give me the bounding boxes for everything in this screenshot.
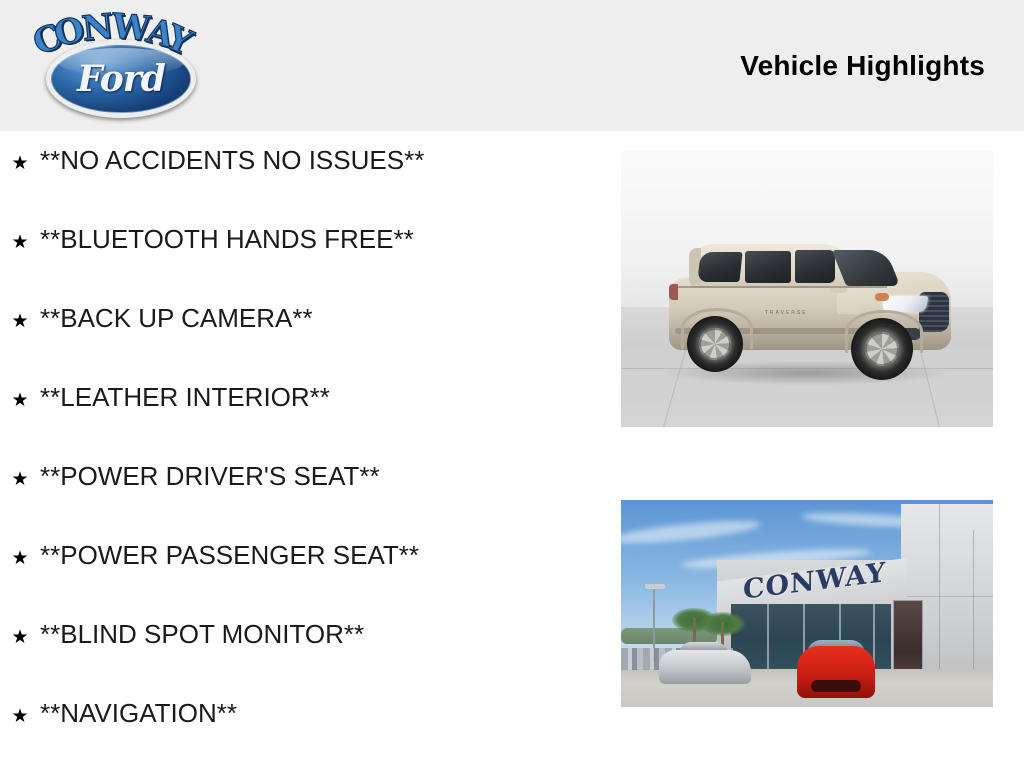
vehicle-highlights-list: ★ **NO ACCIDENTS NO ISSUES** ★ **BLUETOO… (0, 147, 600, 779)
building-panel-seam (939, 504, 940, 690)
building-panel-seam (973, 530, 974, 690)
suv-turn-signal (875, 293, 889, 301)
list-item: ★ **POWER PASSENGER SEAT** (0, 542, 600, 621)
star-icon: ★ (0, 154, 40, 173)
list-item: ★ **NO ACCIDENTS NO ISSUES** (0, 147, 600, 226)
suv-tail-light (669, 284, 678, 300)
media-panel: TRAVERSE CONWAY (621, 150, 993, 707)
page-title: Vehicle Highlights (740, 50, 985, 82)
dealer-logo: CONWAY Ford (24, 8, 214, 120)
list-item: ★ **BACK UP CAMERA** (0, 305, 600, 384)
highlight-label: **POWER DRIVER'S SEAT** (40, 463, 380, 489)
list-item: ★ **BLIND SPOT MONITOR** (0, 621, 600, 700)
suv-illustration: TRAVERSE (669, 236, 951, 376)
suv-rear-wheel (687, 316, 743, 372)
dealership-photo: CONWAY (621, 500, 993, 707)
star-icon: ★ (0, 628, 40, 647)
star-icon: ★ (0, 470, 40, 489)
highlight-label: **NO ACCIDENTS NO ISSUES** (40, 147, 424, 173)
lot-car-silver (659, 650, 751, 684)
suv-front-wheel (851, 318, 913, 380)
list-item: ★ **NAVIGATION** (0, 700, 600, 779)
star-icon: ★ (0, 707, 40, 726)
suv-rear-quarter-window (697, 252, 742, 282)
star-icon: ★ (0, 549, 40, 568)
parking-light-head (645, 584, 665, 589)
vehicle-photo: TRAVERSE (621, 150, 993, 427)
suv-beltline-trim (677, 286, 887, 288)
star-icon: ★ (0, 391, 40, 410)
star-icon: ★ (0, 312, 40, 331)
highlight-label: **BACK UP CAMERA** (40, 305, 313, 331)
suv-front-door-window (795, 250, 835, 283)
suv-model-badge: TRAVERSE (765, 310, 808, 316)
cloud (621, 516, 761, 548)
highlight-label: **LEATHER INTERIOR** (40, 384, 330, 410)
ford-oval-emblem: Ford (46, 40, 196, 118)
ford-script-text: Ford (46, 40, 196, 118)
building-panel-seam (901, 596, 993, 597)
highlight-label: **NAVIGATION** (40, 700, 237, 726)
list-item: ★ **BLUETOOTH HANDS FREE** (0, 226, 600, 305)
list-item: ★ **LEATHER INTERIOR** (0, 384, 600, 463)
suv-rear-door-window (745, 251, 791, 283)
highlight-label: **POWER PASSENGER SEAT** (40, 542, 419, 568)
highlight-label: **BLIND SPOT MONITOR** (40, 621, 364, 647)
star-icon: ★ (0, 233, 40, 252)
list-item: ★ **POWER DRIVER'S SEAT** (0, 463, 600, 542)
lot-car-red-grille (811, 680, 861, 692)
highlight-label: **BLUETOOTH HANDS FREE** (40, 226, 414, 252)
